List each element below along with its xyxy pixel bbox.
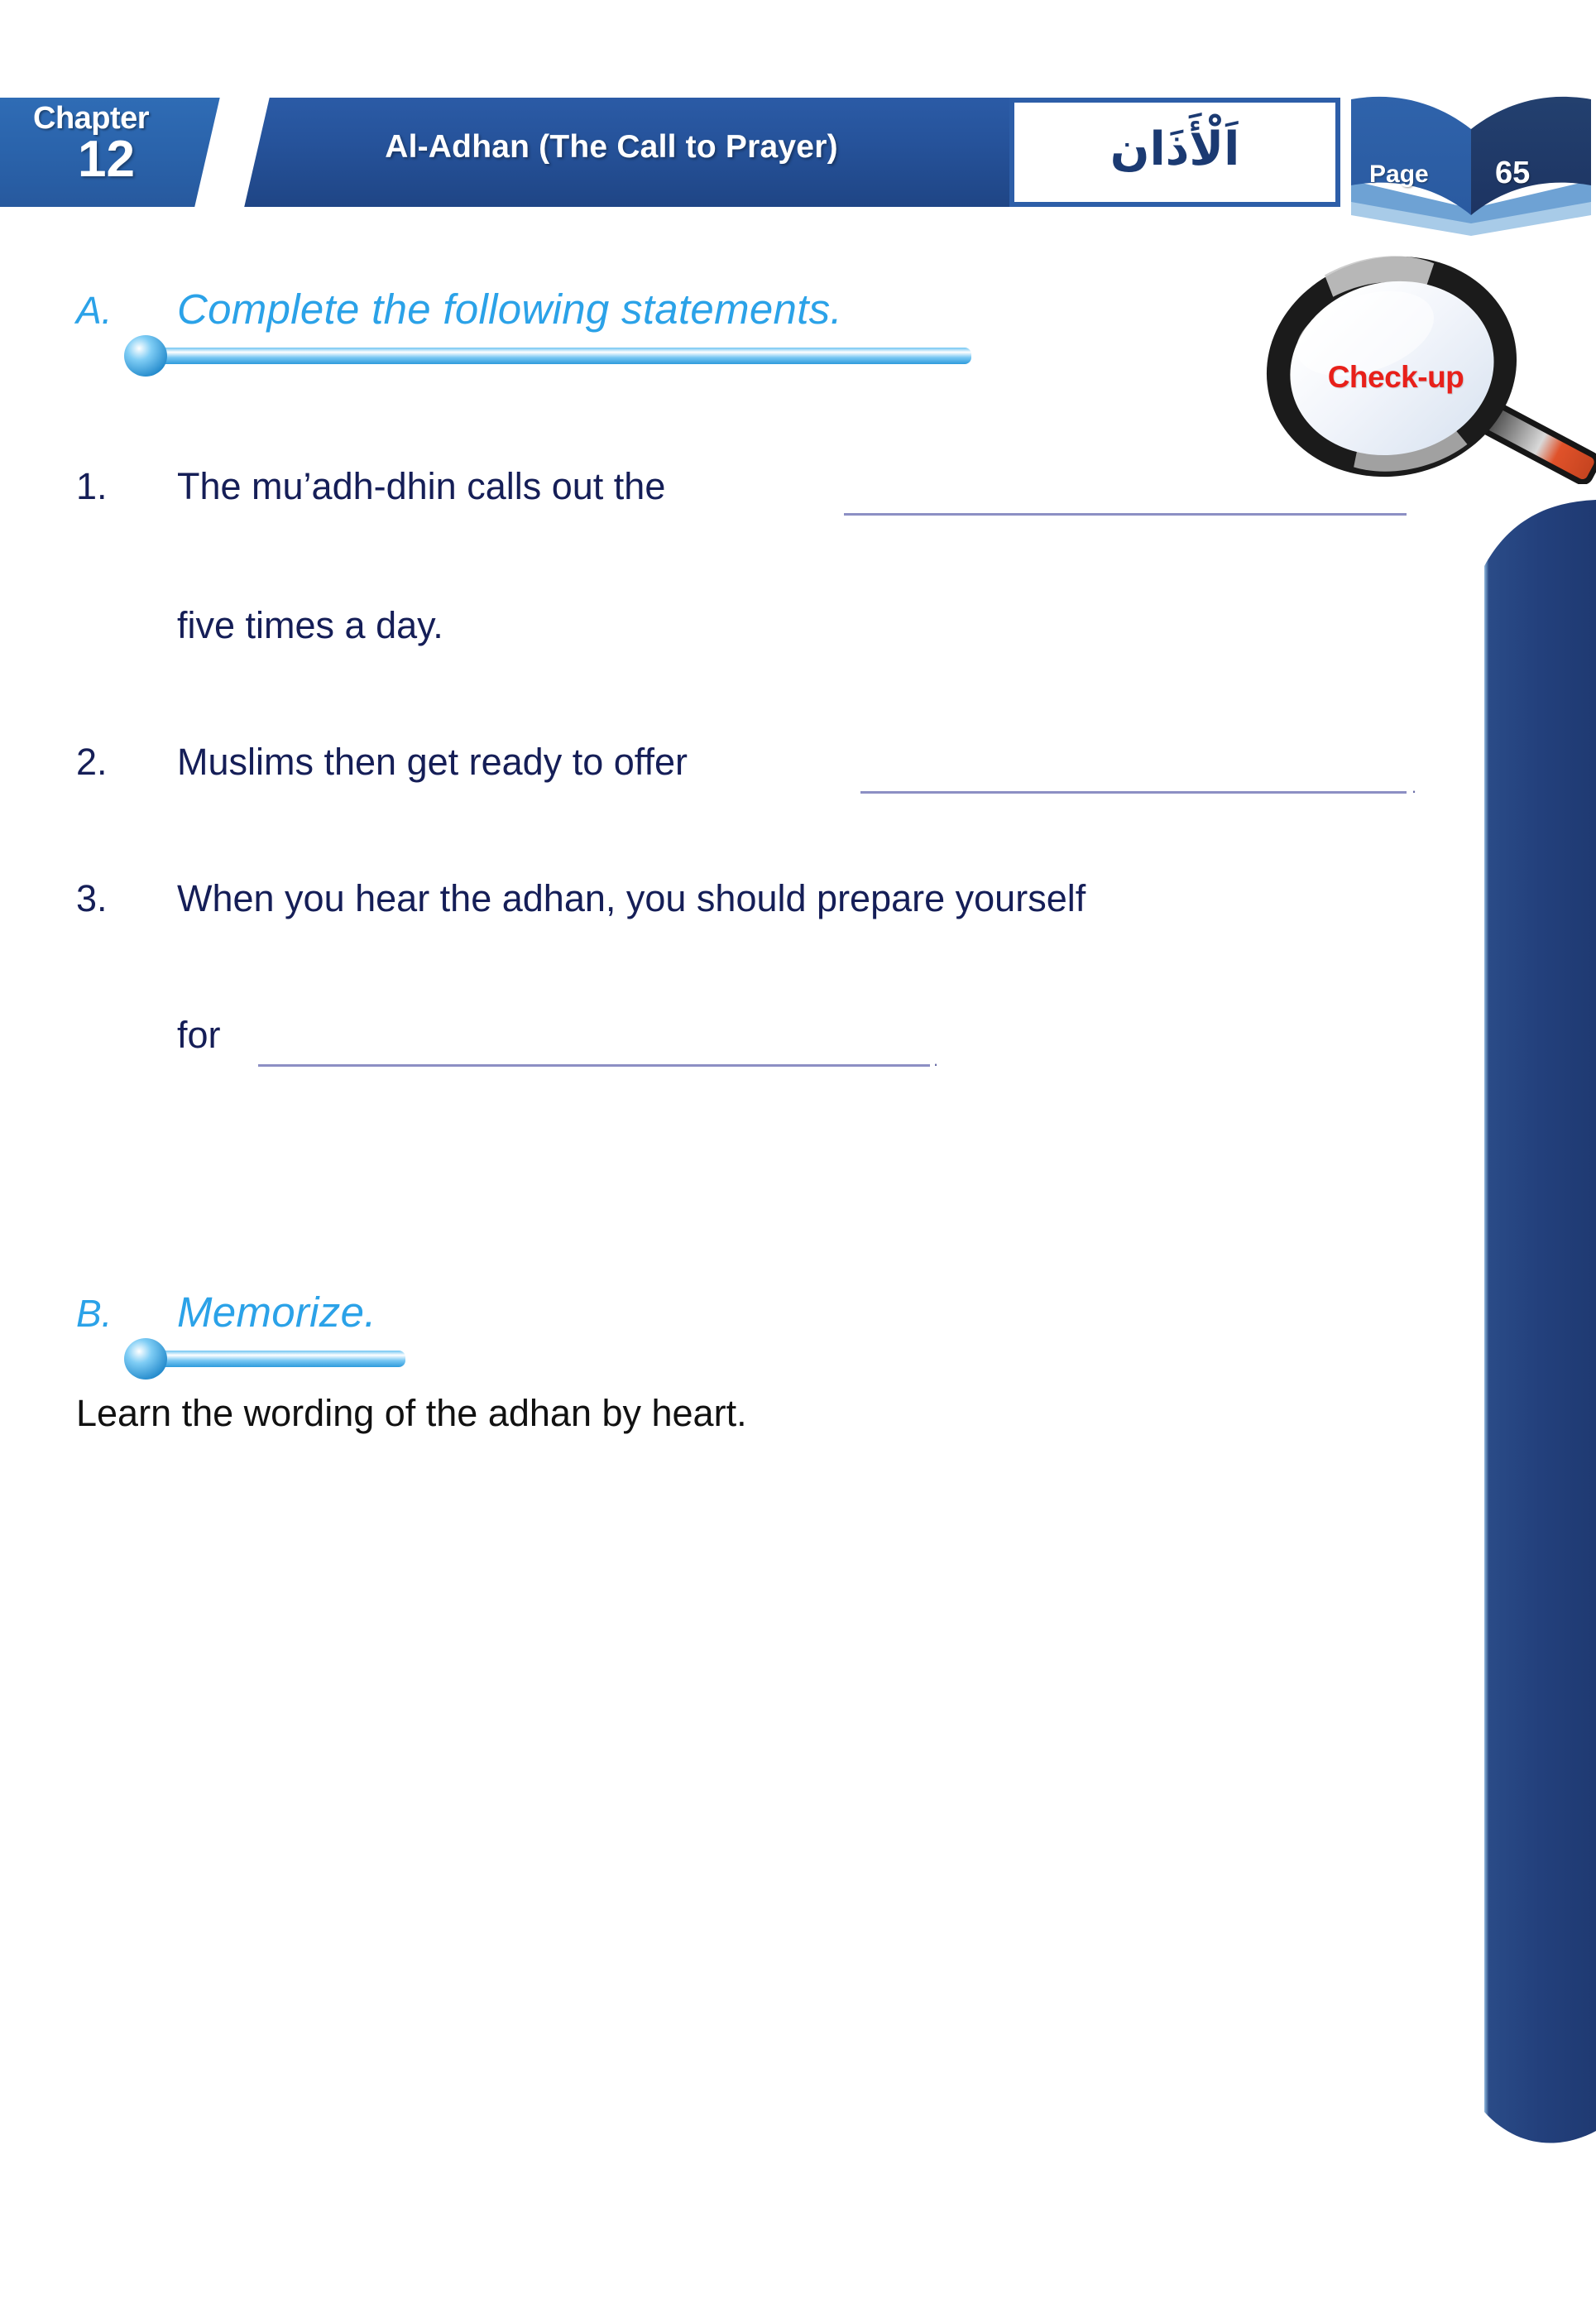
question-1-blank[interactable] [844, 513, 1407, 516]
chapter-number-block: Chapter 12 [0, 98, 222, 207]
question-3-period: . [933, 1049, 938, 1071]
question-1-text: The mu’adh-dhin calls out the [177, 465, 665, 508]
question-3-number: 3. [76, 877, 108, 920]
chapter-title: Al-Adhan (The Call to Prayer) [213, 129, 1009, 166]
question-2-period: . [1411, 776, 1416, 798]
section-b-title: Memorize. [177, 1288, 376, 1336]
worksheet-page: Al-Adhan (The Call to Prayer) Chapter 12… [0, 0, 1596, 2313]
section-a-heading: A. Complete the following statements. [0, 288, 1407, 387]
question-1-text-line2: five times a day. [177, 604, 443, 647]
checkup-text: Check-up [1292, 360, 1499, 395]
page-number: 65 [1495, 156, 1530, 191]
question-3-text-line2: for [177, 1014, 221, 1057]
question-2-blank[interactable] [860, 791, 1407, 794]
question-2-number: 2. [76, 741, 108, 784]
question-3-blank[interactable] [258, 1064, 930, 1067]
memorize-instruction: Learn the wording of the adhan by heart. [76, 1392, 747, 1435]
arabic-title: اَلْأَذَان [1014, 103, 1335, 202]
right-decorative-band [1481, 497, 1596, 2152]
pin-underline-a [122, 334, 975, 377]
page-label: Page [1369, 161, 1429, 189]
chapter-title-bar: Al-Adhan (The Call to Prayer) [213, 98, 1009, 207]
chapter-number: 12 [78, 134, 135, 185]
section-a-letter: A. [76, 288, 112, 333]
question-3-text: When you hear the adhan, you should prep… [177, 877, 1086, 920]
section-a-title: Complete the following statements. [177, 285, 842, 334]
arabic-title-box: اَلْأَذَان [1009, 98, 1340, 207]
page-number-book-graphic: Page 65 [1346, 91, 1596, 236]
question-1-number: 1. [76, 465, 108, 508]
section-b-letter: B. [76, 1291, 112, 1336]
chapter-header-banner: Al-Adhan (The Call to Prayer) Chapter 12… [0, 98, 1340, 207]
section-b-heading: B. Memorize. [0, 1291, 1407, 1390]
question-2-text: Muslims then get ready to offer [177, 741, 688, 784]
band-shape [1481, 497, 1596, 2152]
checkup-badge: Check-up [1225, 244, 1596, 484]
pin-underline-b [122, 1337, 412, 1380]
